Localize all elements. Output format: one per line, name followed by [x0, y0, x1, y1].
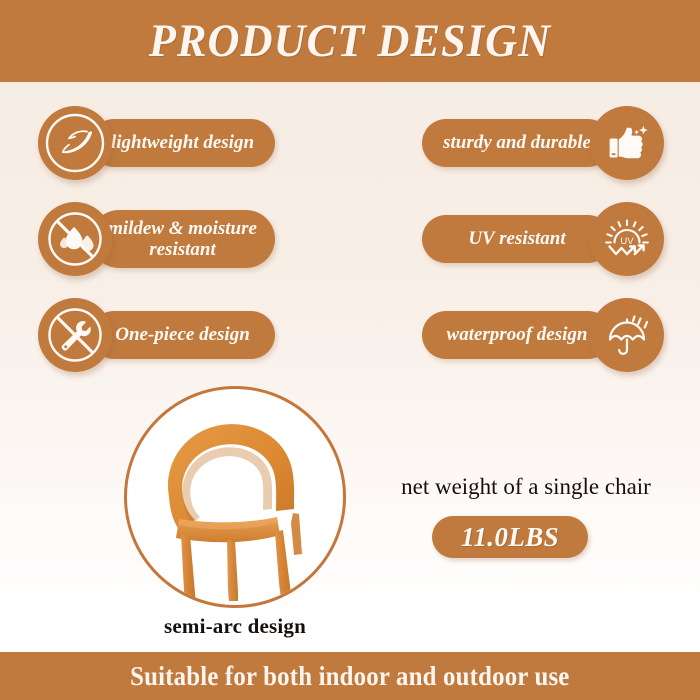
chair-photo: [147, 401, 329, 601]
chair-figure: semi-arc design: [124, 386, 346, 608]
footer-band: Suitable for both indoor and outdoor use: [0, 652, 700, 700]
chair-circle-frame: [124, 386, 346, 608]
product-design-infographic: PRODUCT DESIGN lightweight design: [0, 0, 700, 700]
feather-icon: [38, 106, 112, 180]
feature-label: UV resistant: [452, 228, 581, 249]
thumbs-up-icon: [590, 106, 664, 180]
feature-pill-sturdy: sturdy and durable: [422, 119, 612, 167]
feature-lightweight-design: lightweight design: [38, 104, 328, 182]
feature-one-piece-design: One-piece design: [38, 296, 328, 374]
umbrella-icon: [590, 298, 664, 372]
weight-label: net weight of a single chair: [368, 474, 684, 500]
feature-uv-resistant: UV resistant UV: [368, 200, 664, 278]
no-mildew-icon: [38, 202, 112, 276]
page-title: PRODUCT DESIGN: [149, 14, 551, 68]
feature-pill-mildew: mildew & moisture resistant: [90, 210, 275, 268]
feature-waterproof-design: waterproof design: [368, 296, 664, 374]
no-tools-icon: [38, 298, 112, 372]
feature-pill-one-piece: One-piece design: [90, 311, 275, 359]
footer-text: Suitable for both indoor and outdoor use: [130, 661, 569, 692]
weight-badge: 11.0LBS: [432, 516, 588, 558]
chair-caption: semi-arc design: [124, 614, 346, 639]
feature-label: waterproof design: [431, 324, 604, 345]
feature-label: One-piece design: [99, 324, 266, 345]
feature-label: lightweight design: [95, 132, 270, 153]
feature-label: mildew & moisture resistant: [92, 218, 273, 261]
feature-pill-uv: UV resistant: [422, 215, 612, 263]
weight-value: 11.0LBS: [461, 522, 559, 553]
feature-sturdy-durable: sturdy and durable: [368, 104, 664, 182]
header-band: PRODUCT DESIGN: [0, 0, 700, 82]
feature-label: sturdy and durable: [427, 132, 607, 153]
feature-pill-lightweight: lightweight design: [90, 119, 275, 167]
feature-mildew-resistant: mildew & moisture resistant: [38, 200, 328, 278]
feature-pill-waterproof: waterproof design: [422, 311, 612, 359]
uv-sun-icon: UV: [590, 202, 664, 276]
